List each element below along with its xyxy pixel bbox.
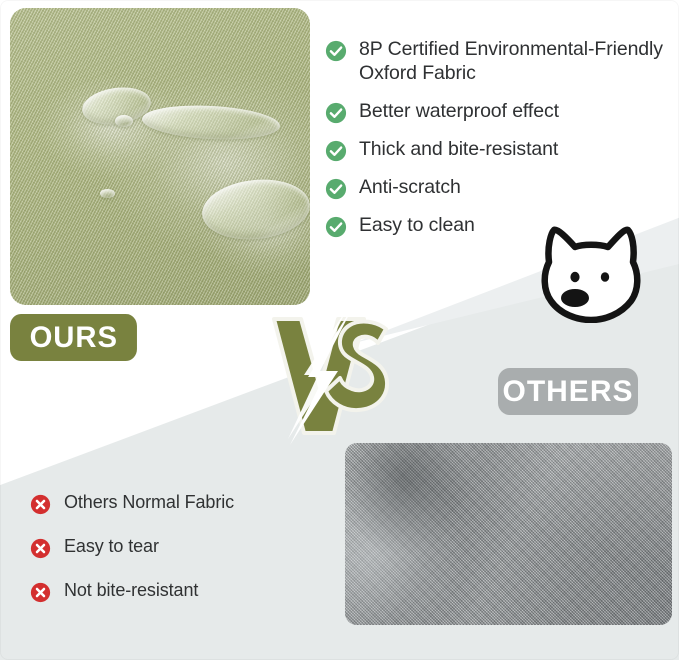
check-circle-icon	[325, 178, 347, 200]
list-item-label: Better waterproof effect	[359, 100, 559, 124]
ours-badge-label: OURS	[29, 321, 117, 355]
cross-circle-icon	[30, 582, 51, 603]
water-droplet	[115, 115, 133, 127]
list-item-label: Anti-scratch	[359, 176, 461, 200]
list-item: Not bite-resistant	[30, 580, 330, 603]
list-item-label: 8P Certified Environmental-Friendly Oxfo…	[359, 38, 673, 86]
others-feature-list: Others Normal Fabric Easy to tear Not bi…	[30, 492, 330, 624]
check-circle-icon	[325, 140, 347, 162]
list-item: Anti-scratch	[325, 176, 673, 200]
ours-badge: OURS	[10, 314, 137, 361]
check-circle-icon	[325, 216, 347, 238]
list-item: 8P Certified Environmental-Friendly Oxfo…	[325, 38, 673, 86]
fabric-weave-texture	[10, 8, 310, 305]
ours-fabric-swatch	[10, 8, 310, 305]
dog-face-outline-icon	[527, 216, 655, 323]
check-circle-icon	[325, 102, 347, 124]
list-item-label: Easy to tear	[64, 536, 159, 558]
list-item-label: Thick and bite-resistant	[359, 138, 558, 162]
list-item: Others Normal Fabric	[30, 492, 330, 515]
others-fabric-swatch	[345, 443, 672, 625]
list-item-label: Easy to clean	[359, 214, 475, 238]
water-droplet	[100, 189, 115, 198]
list-item: Better waterproof effect	[325, 100, 673, 124]
list-item-label: Others Normal Fabric	[64, 492, 234, 514]
list-item-label: Not bite-resistant	[64, 580, 198, 602]
cross-circle-icon	[30, 494, 51, 515]
list-item: Thick and bite-resistant	[325, 138, 673, 162]
list-item: Easy to tear	[30, 536, 330, 559]
cross-circle-icon	[30, 538, 51, 559]
fabric-sheen-overlay	[345, 443, 672, 625]
others-badge-label: OTHERS	[502, 375, 633, 409]
vs-lightning-icon	[268, 305, 394, 445]
product-comparison-graphic: OURS 8P Certified Environmental-Friendly…	[0, 0, 679, 660]
others-badge: OTHERS	[498, 368, 638, 415]
check-circle-icon	[325, 40, 347, 62]
